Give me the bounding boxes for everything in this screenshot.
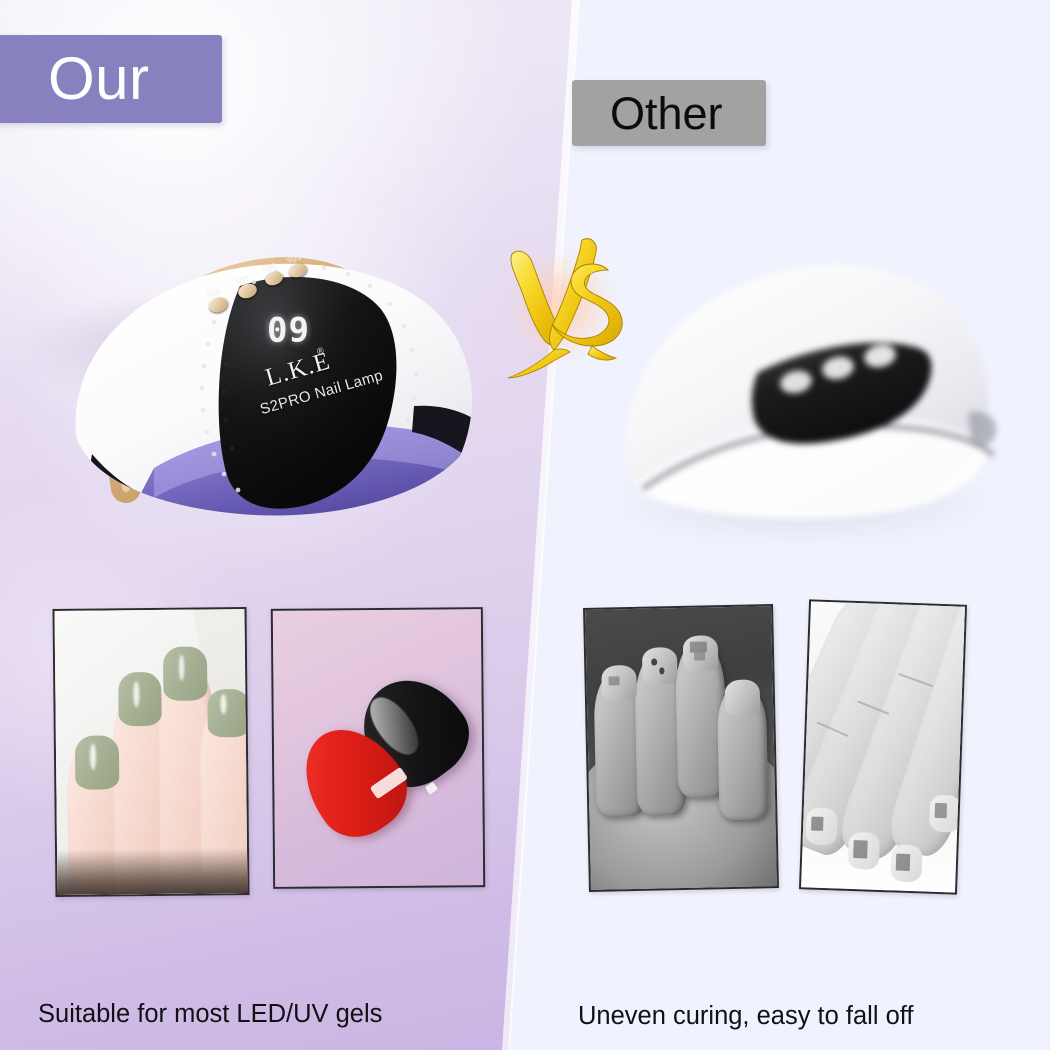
other-product-image	[608, 196, 1008, 556]
lamp-timer-display: 60	[266, 308, 309, 348]
photo-sage-green-nails: m	[52, 607, 249, 897]
caption-left: Suitable for most LED/UV gels (Not suita…	[38, 922, 446, 1050]
caption-right: Uneven curing, easy to fall off	[578, 924, 913, 1050]
photo-red-black-nail-tips	[271, 607, 485, 889]
our-product-image: 99s 60s 30s 10s 60 L.K.E ® S2PRO Nail La…	[62, 168, 482, 568]
badge-our: Our	[0, 35, 222, 123]
caption-left-line1: Suitable for most LED/UV gels	[38, 996, 446, 1033]
versus-graphic: VS	[496, 228, 626, 403]
other-lamp-svg	[608, 196, 1008, 556]
caption-right-line1: Uneven curing, easy to fall off	[578, 998, 913, 1035]
badge-other-label: Other	[610, 91, 723, 136]
badge-other: Other	[572, 80, 766, 146]
photo-chipped-polish-fingers	[799, 599, 967, 894]
badge-our-label: Our	[48, 49, 150, 109]
product-comparison-graphic: 99s 60s 30s 10s 60 L.K.E ® S2PRO Nail La…	[0, 0, 1050, 1050]
versus-icon: VS	[496, 228, 626, 403]
photo-damaged-nails-dark	[583, 604, 779, 892]
